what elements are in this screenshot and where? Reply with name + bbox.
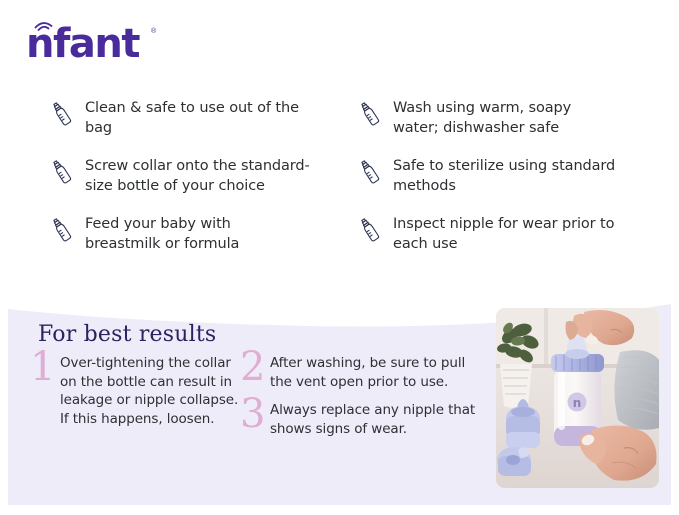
- tip-text: Always replace any nipple that shows sig…: [270, 401, 490, 438]
- list-item: Safe to sterilize using standard methods: [358, 156, 658, 196]
- feature-text: Clean & safe to use out of the bag: [85, 98, 310, 138]
- list-item: Wash using warm, soapy water; dishwasher…: [358, 98, 658, 138]
- registered-trademark-symbol: ®: [151, 28, 156, 35]
- tips-column-b: 2 After washing, be sure to pull the ven…: [240, 354, 490, 448]
- tip-number: 2: [240, 350, 270, 384]
- baby-bottle-icon: [358, 216, 384, 244]
- baby-bottle-icon: [358, 100, 384, 128]
- page-title: For best results: [38, 322, 216, 347]
- list-item: 3 Always replace any nipple that shows s…: [240, 401, 490, 438]
- list-item: Screw collar onto the standard-size bott…: [50, 156, 350, 196]
- feature-text: Wash using warm, soapy water; dishwasher…: [393, 98, 618, 138]
- tip-number: 3: [240, 397, 270, 431]
- tips-column-a: 1 Over-tightening the collar on the bott…: [30, 354, 240, 448]
- logo-wordmark: nfant: [26, 22, 139, 66]
- feature-text: Inspect nipple for wear prior to each us…: [393, 214, 618, 254]
- tip-number: 1: [30, 350, 60, 384]
- tips-list: 1 Over-tightening the collar on the bott…: [30, 354, 500, 448]
- list-item: 1 Over-tightening the collar on the bott…: [30, 354, 240, 428]
- list-item: Feed your baby with breastmilk or formul…: [50, 214, 350, 254]
- baby-bottle-icon: [50, 216, 76, 244]
- list-item: Inspect nipple for wear prior to each us…: [358, 214, 658, 254]
- product-photo-hands-holding-bottle: n: [496, 308, 659, 488]
- feature-column-right: Wash using warm, soapy water; dishwasher…: [358, 98, 658, 272]
- tip-text: Over-tightening the collar on the bottle…: [60, 354, 240, 428]
- feature-column-left: Clean & safe to use out of the bag S: [50, 98, 350, 272]
- tip-text: After washing, be sure to pull the vent …: [270, 354, 490, 391]
- baby-bottle-icon: [50, 158, 76, 186]
- product-info-page: nfant ® Clean & safe to: [0, 0, 679, 515]
- feature-text: Screw collar onto the standard-size bott…: [85, 156, 310, 196]
- feature-text: Feed your baby with breastmilk or formul…: [85, 214, 310, 254]
- baby-bottle-icon: [358, 158, 384, 186]
- feature-text: Safe to sterilize using standard methods: [393, 156, 618, 196]
- list-item: 2 After washing, be sure to pull the ven…: [240, 354, 490, 391]
- feature-list: Clean & safe to use out of the bag S: [0, 98, 679, 272]
- svg-text:n: n: [573, 396, 582, 410]
- brand-logo: nfant ®: [26, 18, 186, 64]
- list-item: Clean & safe to use out of the bag: [50, 98, 350, 138]
- best-results-panel: For best results 1 Over-tightening the c…: [8, 296, 671, 505]
- baby-bottle-icon: [50, 100, 76, 128]
